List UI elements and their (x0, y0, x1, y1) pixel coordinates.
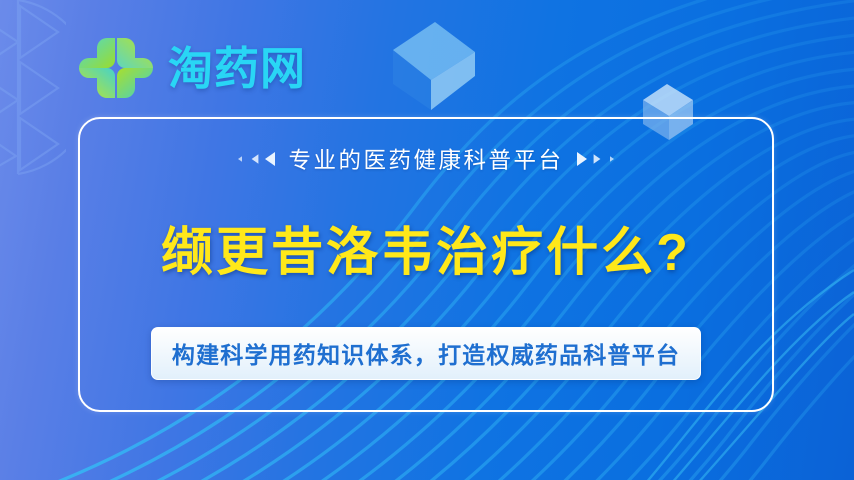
medical-cross-petal-icon (78, 30, 154, 106)
content-frame: 专业的医药健康科普平台 缬更昔洛韦治疗什么? 构建科学用药知识体系，打造权威药品… (78, 117, 774, 412)
subtitle-row: 专业的医药健康科普平台 (235, 144, 616, 174)
promo-banner: 淘药网 专业的医药健康科普平台 缬更昔洛韦治疗什么? 构建科学用药知识体系，打造… (0, 0, 854, 480)
brand-wordmark: 淘药网 (168, 46, 306, 91)
tagline-text: 构建科学用药知识体系，打造权威药品科普平台 (172, 342, 680, 368)
triangle-halfcircle-pattern-icon (0, 0, 66, 182)
page-title: 缬更昔洛韦治疗什么? (161, 210, 691, 285)
tagline-banner: 构建科学用药知识体系，打造权威药品科普平台 (151, 327, 701, 380)
isometric-cube-icon (383, 14, 479, 118)
brand-logo[interactable]: 淘药网 (78, 30, 306, 106)
triangle-left-arrows-icon (235, 152, 275, 166)
triangle-right-arrows-icon (577, 152, 617, 166)
subtitle-text: 专业的医药健康科普平台 (288, 143, 563, 175)
